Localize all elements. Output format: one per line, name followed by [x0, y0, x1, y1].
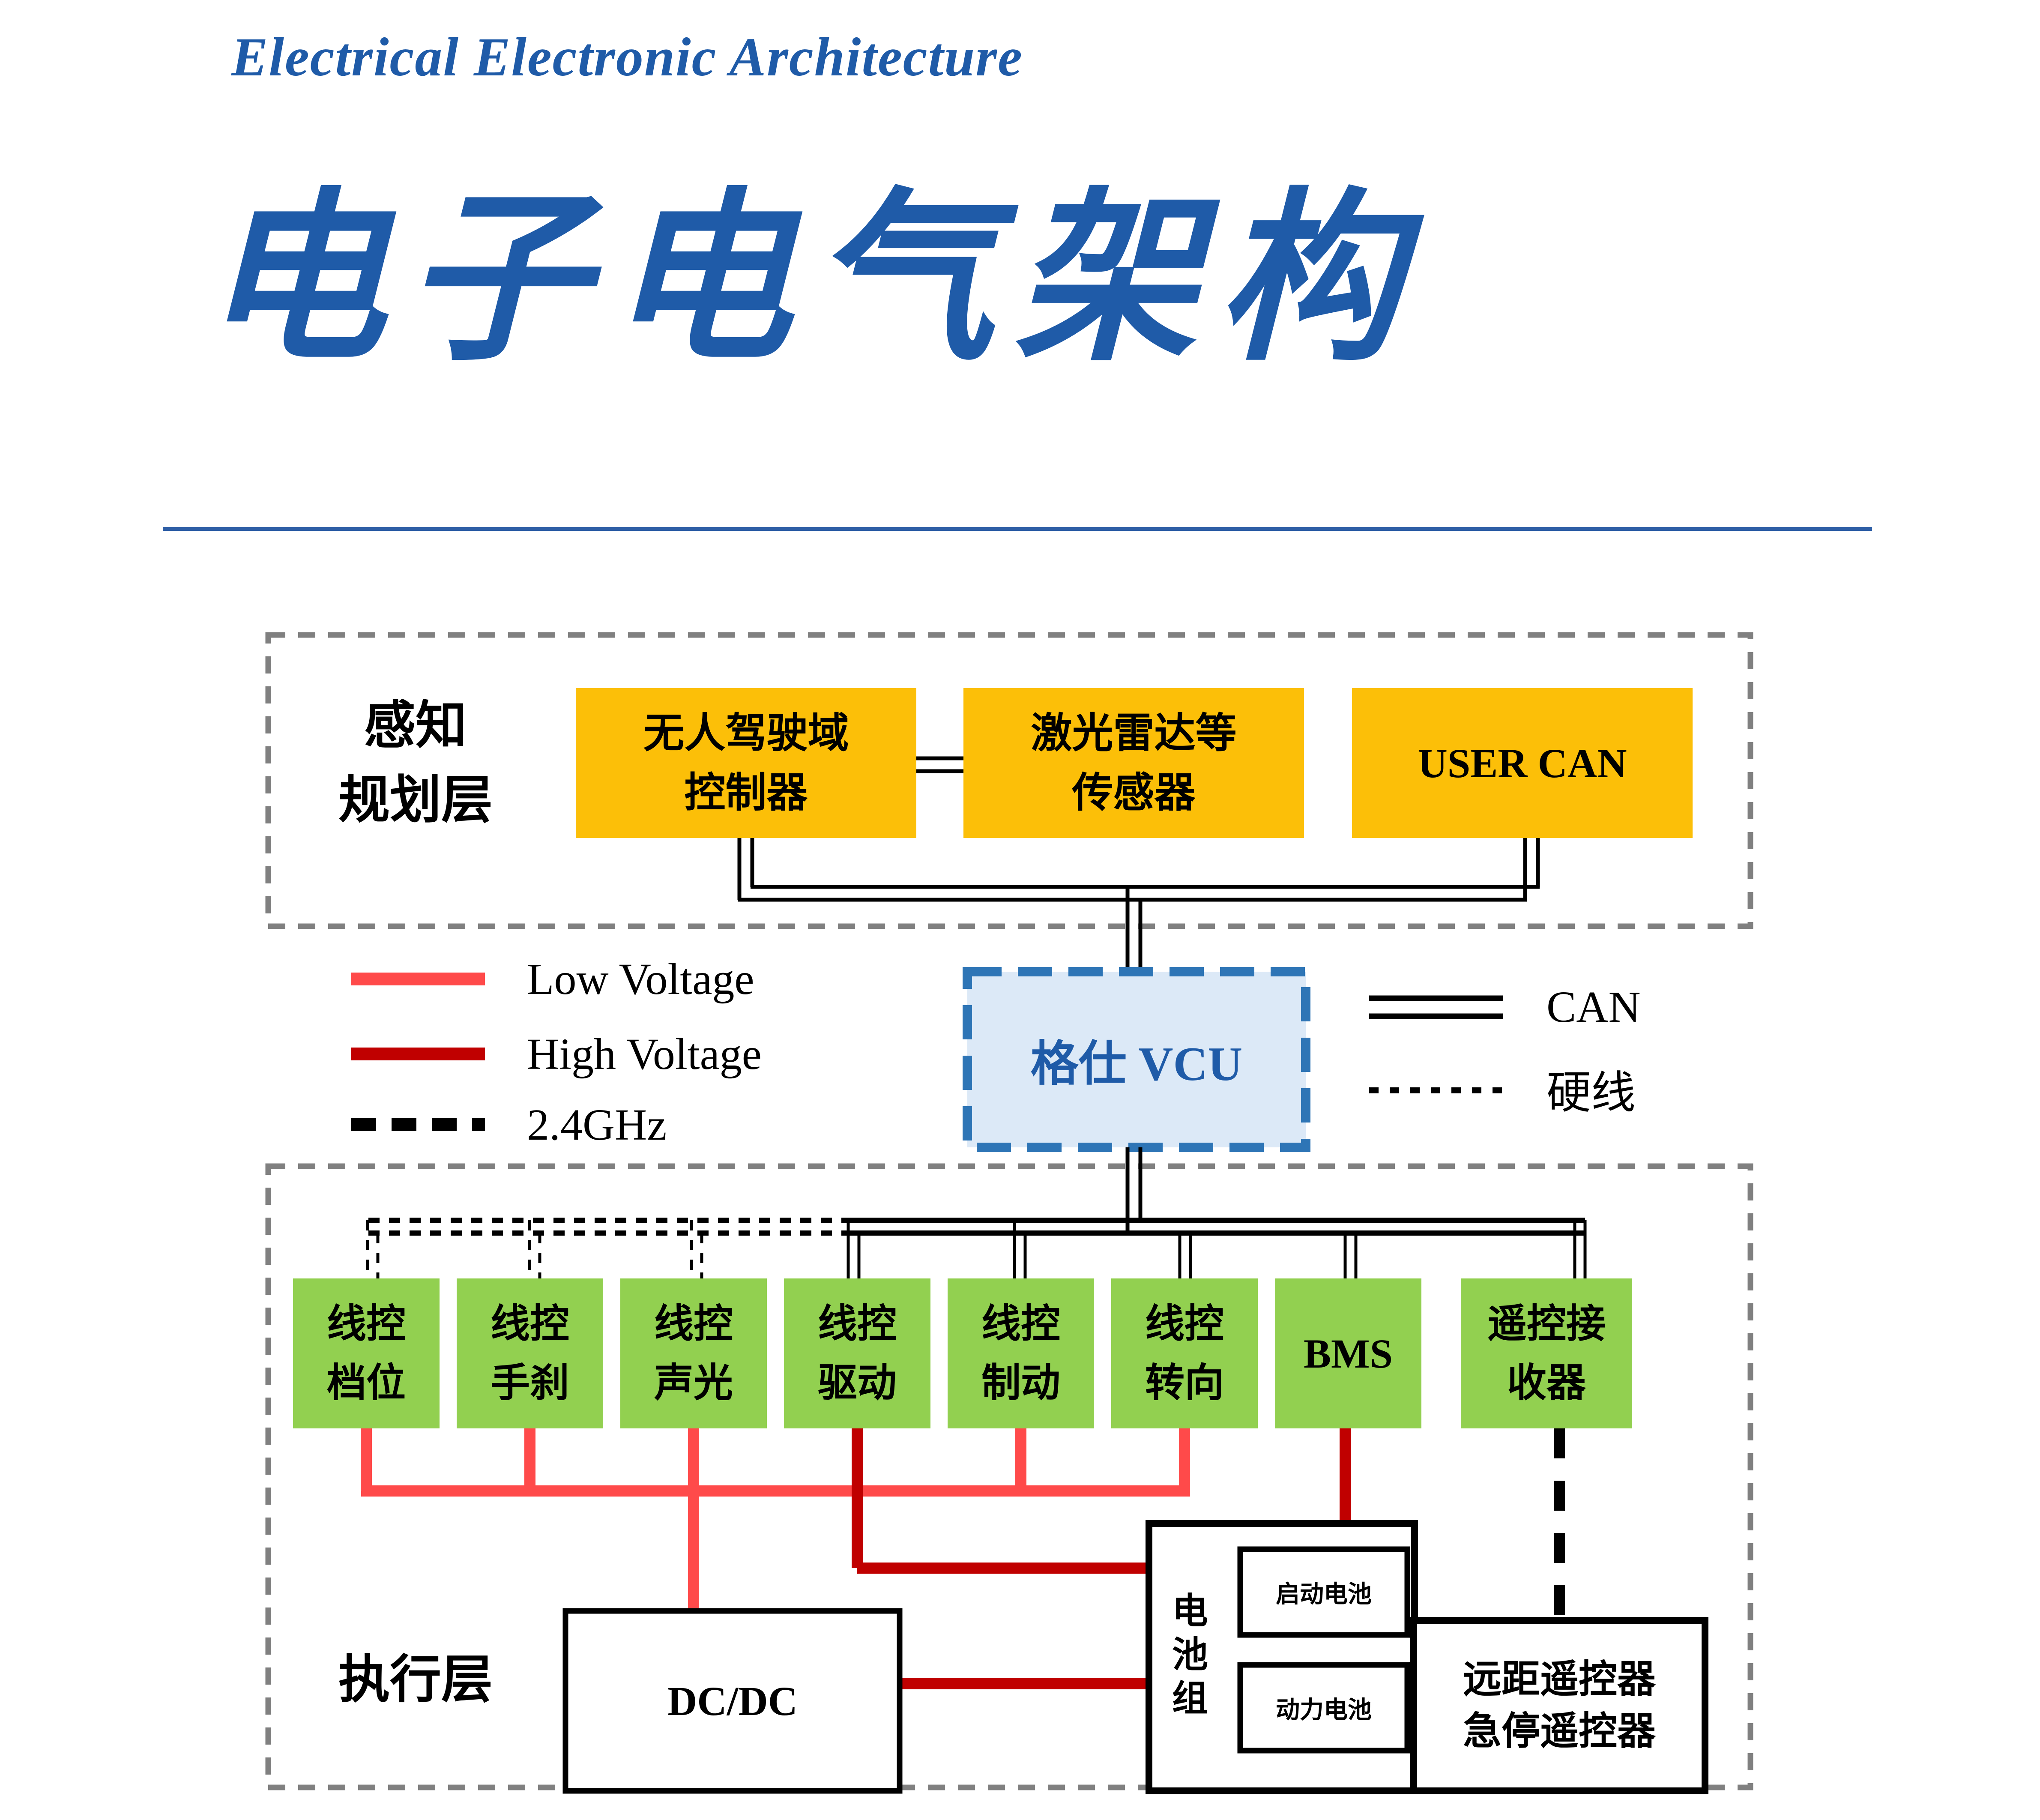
box-lidar-line1: 激光雷达等 [1031, 703, 1237, 763]
box-drive-line2: 驱动 [818, 1353, 897, 1413]
legend-high-voltage-text: High Voltage [527, 1029, 762, 1080]
execution-layer-label-text: 执行层 [338, 1642, 493, 1717]
battery-cell-start-label: 启动电池 [1240, 1549, 1407, 1635]
box-adc-label: 无人驾驶域 控制器 [576, 688, 916, 838]
box-lidar-label: 激光雷达等 传感器 [963, 688, 1304, 838]
legend-label-low-voltage: Low Voltage [527, 949, 827, 1009]
box-brake-label: 线控 制动 [948, 1278, 1094, 1428]
box-steering-line2: 转向 [1145, 1353, 1224, 1413]
box-gear-line1: 线控 [327, 1294, 406, 1353]
battery-cell-power-label: 动力电池 [1240, 1665, 1407, 1751]
box-drive-line1: 线控 [818, 1294, 897, 1353]
box-bms-label: BMS [1275, 1278, 1421, 1428]
remote-controller-line1: 远距遥控器 [1463, 1654, 1656, 1706]
perception-layer-label-line1: 感知 [364, 688, 467, 763]
battery-pack-label: 电池组 [1164, 1534, 1211, 1781]
legend-low-voltage-text: Low Voltage [527, 954, 754, 1005]
legend-can-text: CAN [1546, 982, 1641, 1033]
perception-layer-label: 感知 规划层 [326, 681, 506, 844]
legend-label-can: CAN [1546, 977, 1761, 1037]
architecture-svg [0, 0, 2040, 1820]
box-rcrx-label: 遥控接 收器 [1461, 1278, 1632, 1428]
box-rcrx-line1: 遥控接 [1487, 1294, 1606, 1353]
box-lidar-line2: 传感器 [1072, 763, 1196, 823]
legend-label-hardwire: 硬线 [1546, 1058, 1761, 1118]
legend-label-wireless-24ghz: 2.4GHz [527, 1095, 767, 1155]
box-adc-line2: 控制器 [685, 763, 808, 823]
battery-cell-power-text: 动力电池 [1276, 1691, 1372, 1725]
box-drive-label: 线控 驱动 [784, 1278, 930, 1428]
box-gear-label: 线控 档位 [293, 1278, 440, 1428]
box-steering-line1: 线控 [1145, 1294, 1224, 1353]
remote-controller-line2: 急停遥控器 [1463, 1706, 1656, 1758]
box-usercan-label: USER CAN [1352, 688, 1693, 838]
dcdc-label-text: DC/DC [667, 1677, 798, 1725]
execution-layer-label: 执行层 [317, 1641, 514, 1718]
box-light-label: 线控 声光 [620, 1278, 767, 1428]
box-steering-label: 线控 转向 [1111, 1278, 1258, 1428]
box-light-line2: 声光 [654, 1353, 733, 1413]
box-rcrx-line2: 收器 [1507, 1353, 1586, 1413]
battery-cell-start-text: 启动电池 [1276, 1575, 1372, 1610]
box-ebrake-label: 线控 手刹 [457, 1278, 603, 1428]
box-adc-line1: 无人驾驶域 [643, 703, 849, 763]
box-brake-line1: 线控 [981, 1294, 1060, 1353]
box-ebrake-line2: 手刹 [491, 1353, 569, 1413]
diagram-canvas: Electrical Electronic Architecture 电子电气架… [0, 0, 2040, 1820]
box-bms-line1: BMS [1304, 1330, 1393, 1377]
box-light-line1: 线控 [654, 1294, 733, 1353]
box-usercan-line1: USER CAN [1418, 739, 1627, 787]
legend-hardwire-text: 硬线 [1546, 1056, 1636, 1121]
box-ebrake-line1: 线控 [491, 1294, 569, 1353]
box-dcdc-label: DC/DC [565, 1611, 900, 1791]
battery-pack-label-text: 电池组 [1165, 1592, 1210, 1723]
box-vcu-label: 格仕 VCU [967, 972, 1306, 1147]
box-brake-line2: 制动 [981, 1353, 1060, 1413]
legend-label-high-voltage: High Voltage [527, 1024, 852, 1084]
box-gear-line2: 档位 [327, 1353, 406, 1413]
vcu-label-text: 格仕 VCU [1031, 1025, 1243, 1094]
legend-24ghz-text: 2.4GHz [527, 1099, 667, 1150]
remote-controller-label: 远距遥控器 急停遥控器 [1414, 1620, 1705, 1791]
perception-layer-label-line2: 规划层 [338, 763, 493, 837]
